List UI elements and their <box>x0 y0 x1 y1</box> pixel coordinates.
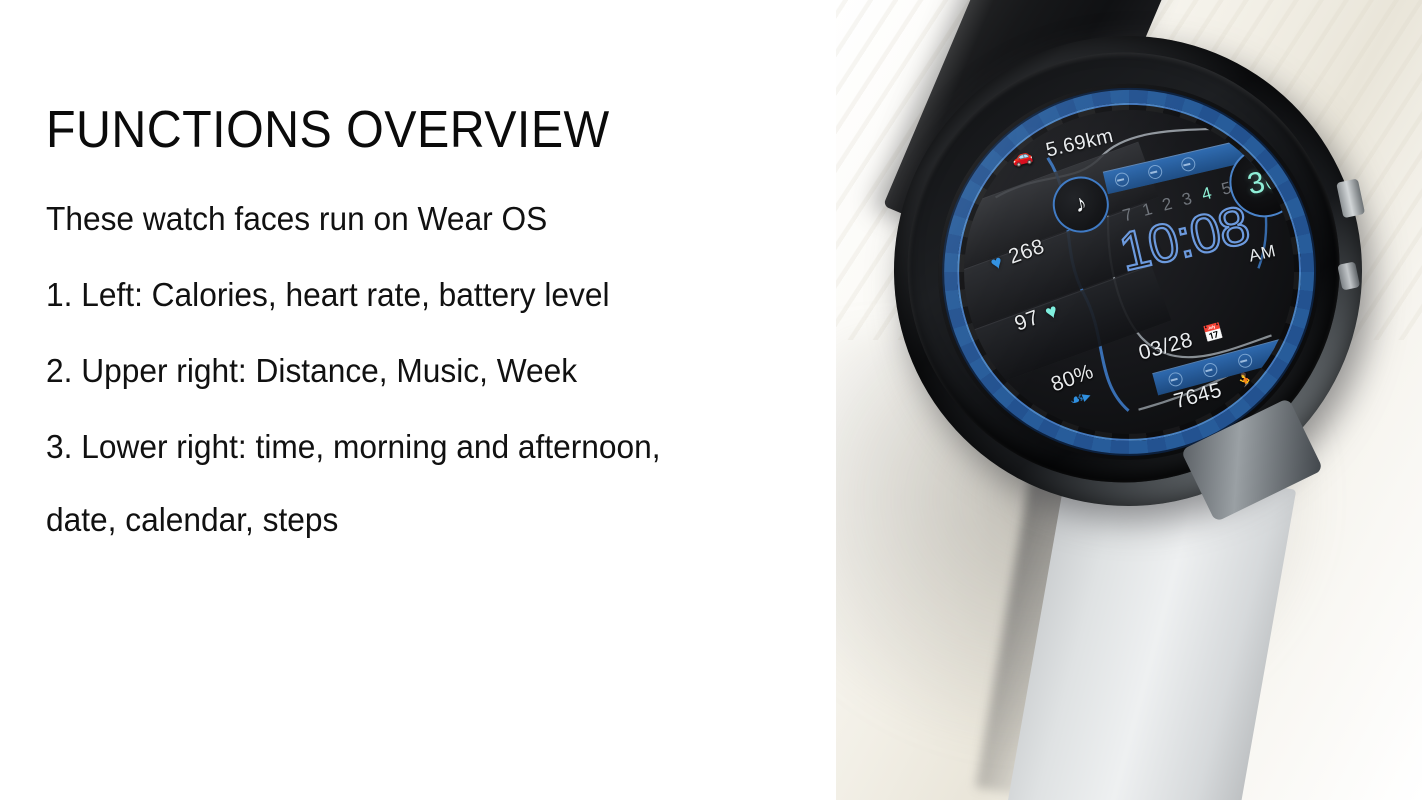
decor-dot <box>1147 164 1164 181</box>
decor-dot <box>1237 352 1254 369</box>
slide-canvas: FUNCTIONS OVERVIEW These watch faces run… <box>0 0 1422 800</box>
week-number-value: 36 <box>1245 162 1285 202</box>
calendar-icon: 📅 <box>1202 324 1225 345</box>
body-line-3: 3. Lower right: time, morning and aftern… <box>46 430 852 463</box>
watch-photo: ♥ 268 ♥ 97 80% ☙▸ 🚗 5.69km <box>836 0 1422 800</box>
body-line-1: 1. Left: Calories, heart rate, battery l… <box>46 278 852 311</box>
body-line-intro: These watch faces run on Wear OS <box>46 202 852 235</box>
music-note-icon: ♪ <box>1072 192 1089 218</box>
car-icon: 🚗 <box>1010 146 1034 167</box>
decor-dot <box>1114 171 1131 188</box>
body-line-2: 2. Upper right: Distance, Music, Week <box>46 354 852 387</box>
date-value: 03/28 <box>1136 328 1195 365</box>
decor-dot <box>1180 156 1197 173</box>
running-person-icon: 🏃 <box>1233 371 1261 395</box>
decor-dot <box>1202 361 1219 378</box>
body-line-3-cont: date, calendar, steps <box>46 503 852 536</box>
text-column: FUNCTIONS OVERVIEW These watch faces run… <box>46 104 886 579</box>
decor-dot <box>1167 371 1184 388</box>
page-title: FUNCTIONS OVERVIEW <box>46 104 827 156</box>
